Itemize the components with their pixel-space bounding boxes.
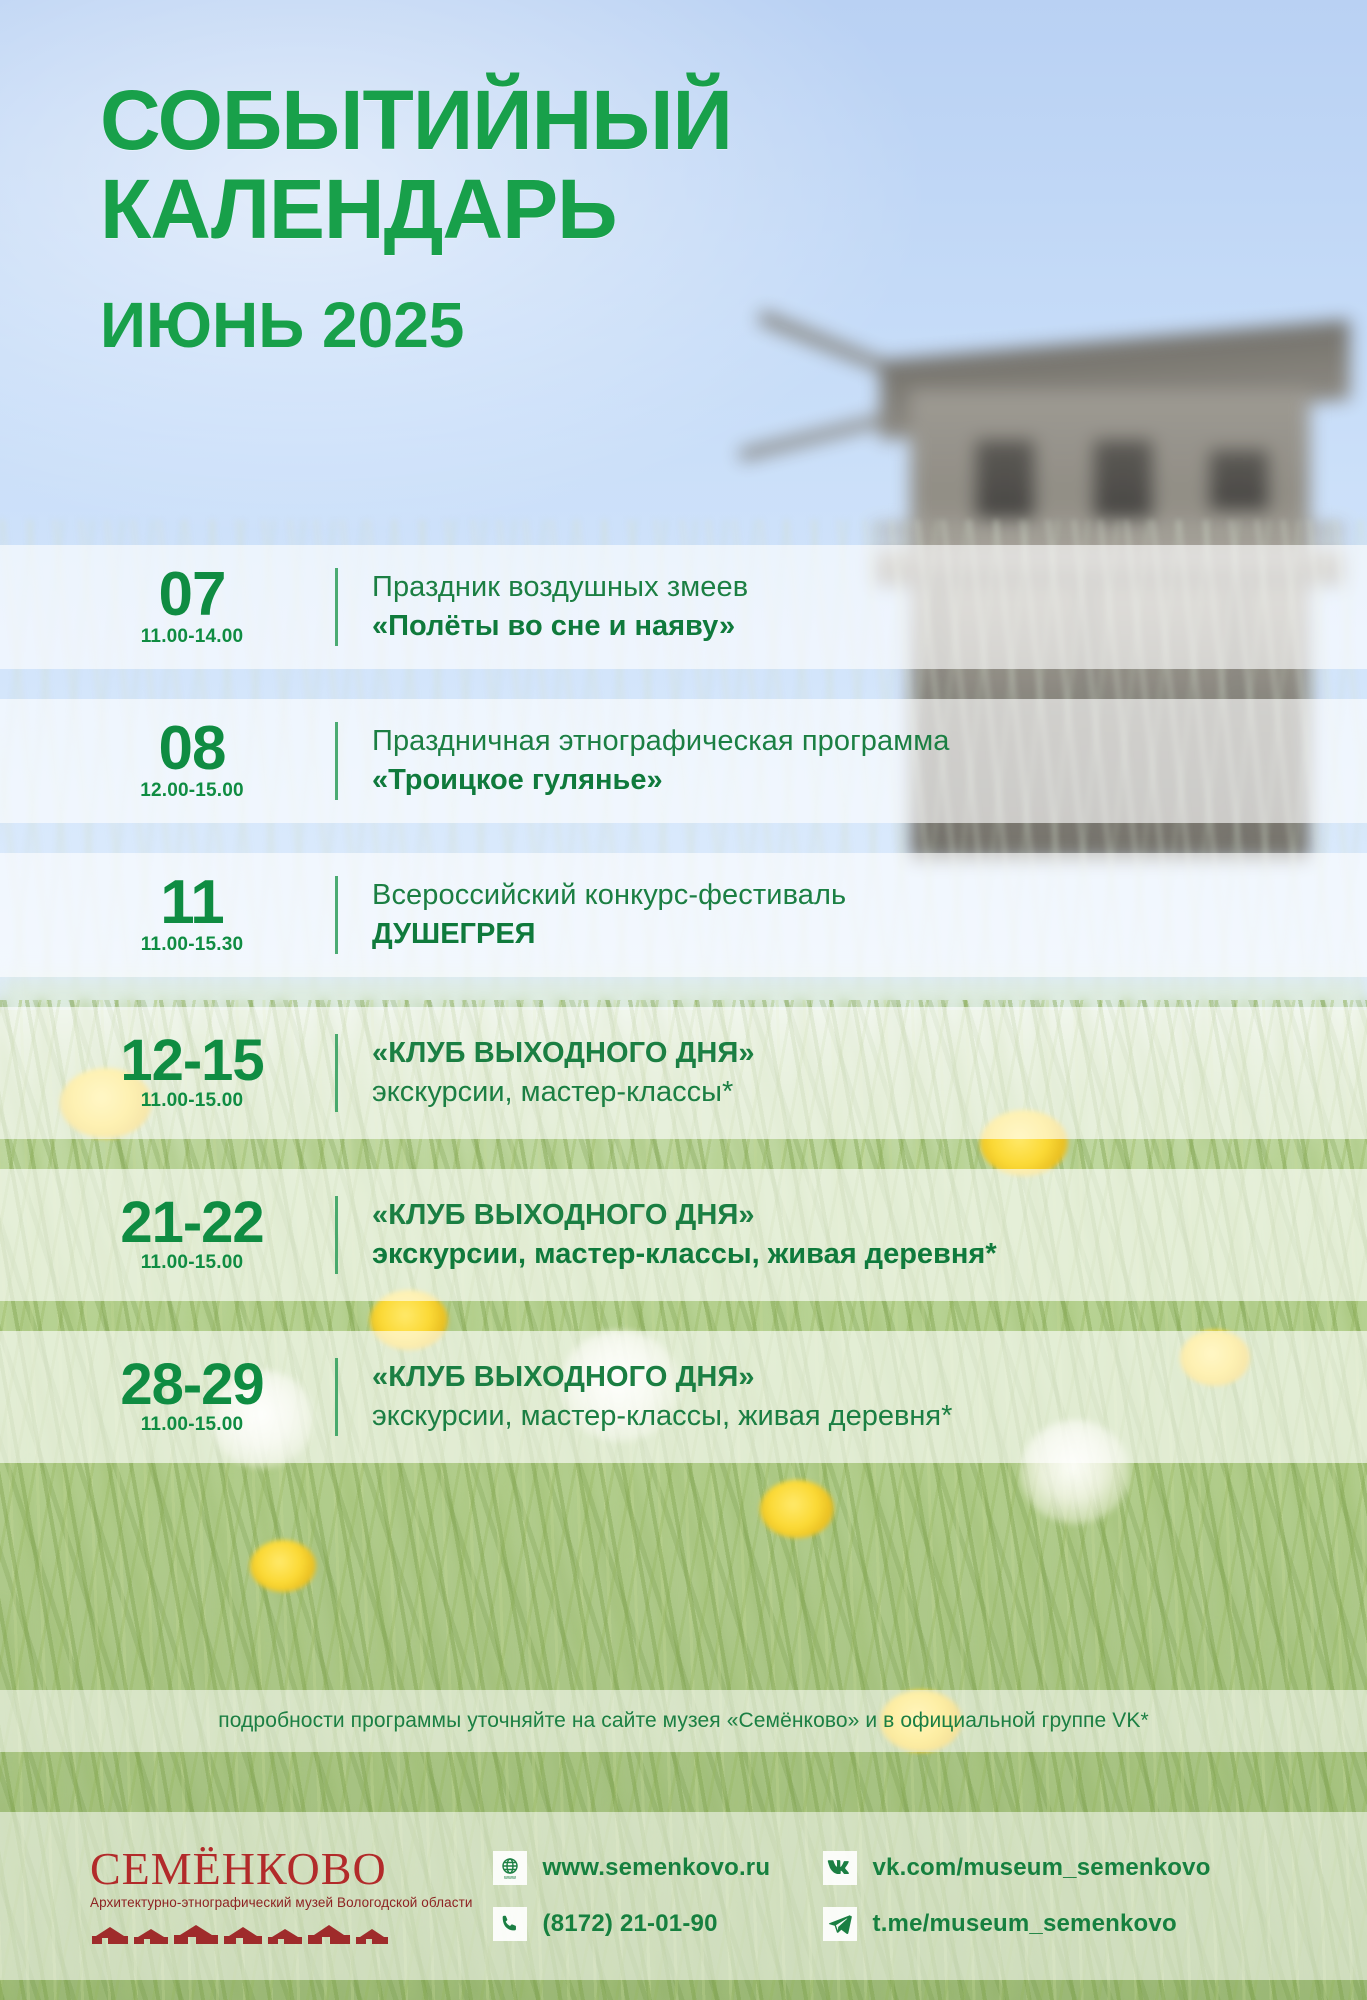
event-line-1: «КЛУБ ВЫХОДНОГО ДНЯ»: [372, 1036, 1367, 1071]
contact-vk[interactable]: vk.com/museum_semenkovo: [823, 1851, 1367, 1885]
event-day: 07: [65, 566, 319, 623]
event-date-block: 12-15 11.00-15.00: [65, 1034, 335, 1112]
museum-logo: СЕМЁНКОВО Архитектурно-этнографический м…: [0, 1846, 473, 1946]
event-day: 12-15: [65, 1034, 319, 1087]
event-text-block: «КЛУБ ВЫХОДНОГО ДНЯ» экскурсии, мастер-к…: [372, 1036, 1367, 1110]
event-date-block: 21-22 11.00-15.00: [65, 1196, 335, 1274]
svg-text:www: www: [503, 1875, 516, 1880]
event-text-block: «КЛУБ ВЫХОДНОГО ДНЯ» экскурсии, мастер-к…: [372, 1360, 1367, 1434]
event-list: 07 11.00-14.00 Праздник воздушных змеев …: [0, 545, 1367, 1493]
event-day: 08: [65, 720, 319, 777]
footnote-band: подробности программы уточняйте на сайте…: [0, 1690, 1367, 1752]
event-row: 07 11.00-14.00 Праздник воздушных змеев …: [0, 545, 1367, 669]
poster-month-year: ИЮНЬ 2025: [100, 293, 1000, 357]
globe-icon: www: [493, 1851, 527, 1885]
event-line-2: экскурсии, мастер-классы, живая деревня*: [372, 1398, 1367, 1434]
event-line-1: Всероссийский конкурс-фестиваль: [372, 878, 1367, 913]
footnote-text: подробности программы уточняйте на сайте…: [218, 1709, 1148, 1733]
event-time: 11.00-15.30: [65, 935, 319, 956]
row-divider: [335, 568, 338, 646]
website-url: www.semenkovo.ru: [543, 1854, 771, 1882]
event-text-block: Праздник воздушных змеев «Полёты во сне …: [372, 570, 1367, 644]
contact-website[interactable]: www www.semenkovo.ru: [493, 1851, 823, 1885]
event-date-block: 28-29 11.00-15.00: [65, 1358, 335, 1436]
event-time: 12.00-15.00: [65, 781, 319, 802]
event-date-block: 11 11.00-15.30: [65, 874, 335, 956]
vk-url: vk.com/museum_semenkovo: [873, 1854, 1211, 1882]
telegram-icon: [823, 1907, 857, 1941]
event-row: 12-15 11.00-15.00 «КЛУБ ВЫХОДНОГО ДНЯ» э…: [0, 1007, 1367, 1139]
footer: СЕМЁНКОВО Архитектурно-этнографический м…: [0, 1812, 1367, 1980]
row-divider: [335, 876, 338, 954]
poster-title-line-2: КАЛЕНДАРЬ: [100, 169, 1000, 250]
event-date-block: 07 11.00-14.00: [65, 566, 335, 648]
event-time: 11.00-15.00: [65, 1091, 319, 1112]
event-line-2: ДУШЕГРЕЯ: [372, 916, 1367, 952]
event-text-block: Праздничная этнографическая программа «Т…: [372, 724, 1367, 798]
event-time: 11.00-15.00: [65, 1253, 319, 1274]
poster-title-line-1: СОБЫТИЙНЫЙ: [100, 80, 1000, 161]
row-divider: [335, 1034, 338, 1112]
event-line-2: «Полёты во сне и наяву»: [372, 608, 1367, 644]
event-time: 11.00-14.00: [65, 627, 319, 648]
row-divider: [335, 722, 338, 800]
event-line-2: «Троицкое гулянье»: [372, 762, 1367, 798]
contact-list: www www.semenkovo.ru vk.com/museum_semen…: [473, 1851, 1367, 1941]
poster-root: СОБЫТИЙНЫЙ КАЛЕНДАРЬ ИЮНЬ 2025 07 11.00-…: [0, 0, 1367, 2000]
event-text-block: «КЛУБ ВЫХОДНОГО ДНЯ» экскурсии, мастер-к…: [372, 1198, 1367, 1272]
event-row: 28-29 11.00-15.00 «КЛУБ ВЫХОДНОГО ДНЯ» э…: [0, 1331, 1367, 1463]
logo-wordmark: СЕМЁНКОВО: [90, 1846, 473, 1892]
dandelion-flower: [250, 1540, 316, 1592]
phone-number: (8172) 21-01-90: [543, 1910, 718, 1938]
poster-header: СОБЫТИЙНЫЙ КАЛЕНДАРЬ ИЮНЬ 2025: [100, 80, 1000, 357]
contact-telegram[interactable]: t.me/museum_semenkovo: [823, 1907, 1367, 1941]
event-date-block: 08 12.00-15.00: [65, 720, 335, 802]
event-text-block: Всероссийский конкурс-фестиваль ДУШЕГРЕЯ: [372, 878, 1367, 952]
event-row: 21-22 11.00-15.00 «КЛУБ ВЫХОДНОГО ДНЯ» э…: [0, 1169, 1367, 1301]
phone-icon: [493, 1907, 527, 1941]
logo-subtitle: Архитектурно-этнографический музей Волог…: [90, 1895, 473, 1910]
event-time: 11.00-15.00: [65, 1415, 319, 1436]
vk-icon: [823, 1851, 857, 1885]
event-line-1: «КЛУБ ВЫХОДНОГО ДНЯ»: [372, 1198, 1367, 1233]
event-day: 28-29: [65, 1358, 319, 1411]
logo-houses-ornament: [90, 1916, 473, 1946]
event-line-1: Праздничная этнографическая программа: [372, 724, 1367, 759]
event-line-1: Праздник воздушных змеев: [372, 570, 1367, 605]
event-row: 08 12.00-15.00 Праздничная этнографическ…: [0, 699, 1367, 823]
event-day: 11: [65, 874, 319, 931]
event-line-1: «КЛУБ ВЫХОДНОГО ДНЯ»: [372, 1360, 1367, 1395]
event-row: 11 11.00-15.30 Всероссийский конкурс-фес…: [0, 853, 1367, 977]
event-day: 21-22: [65, 1196, 319, 1249]
telegram-url: t.me/museum_semenkovo: [873, 1910, 1177, 1938]
contact-phone[interactable]: (8172) 21-01-90: [493, 1907, 823, 1941]
event-line-2: экскурсии, мастер-классы*: [372, 1074, 1367, 1110]
row-divider: [335, 1196, 338, 1274]
event-line-2: экскурсии, мастер-классы, живая деревня*: [372, 1236, 1367, 1272]
row-divider: [335, 1358, 338, 1436]
